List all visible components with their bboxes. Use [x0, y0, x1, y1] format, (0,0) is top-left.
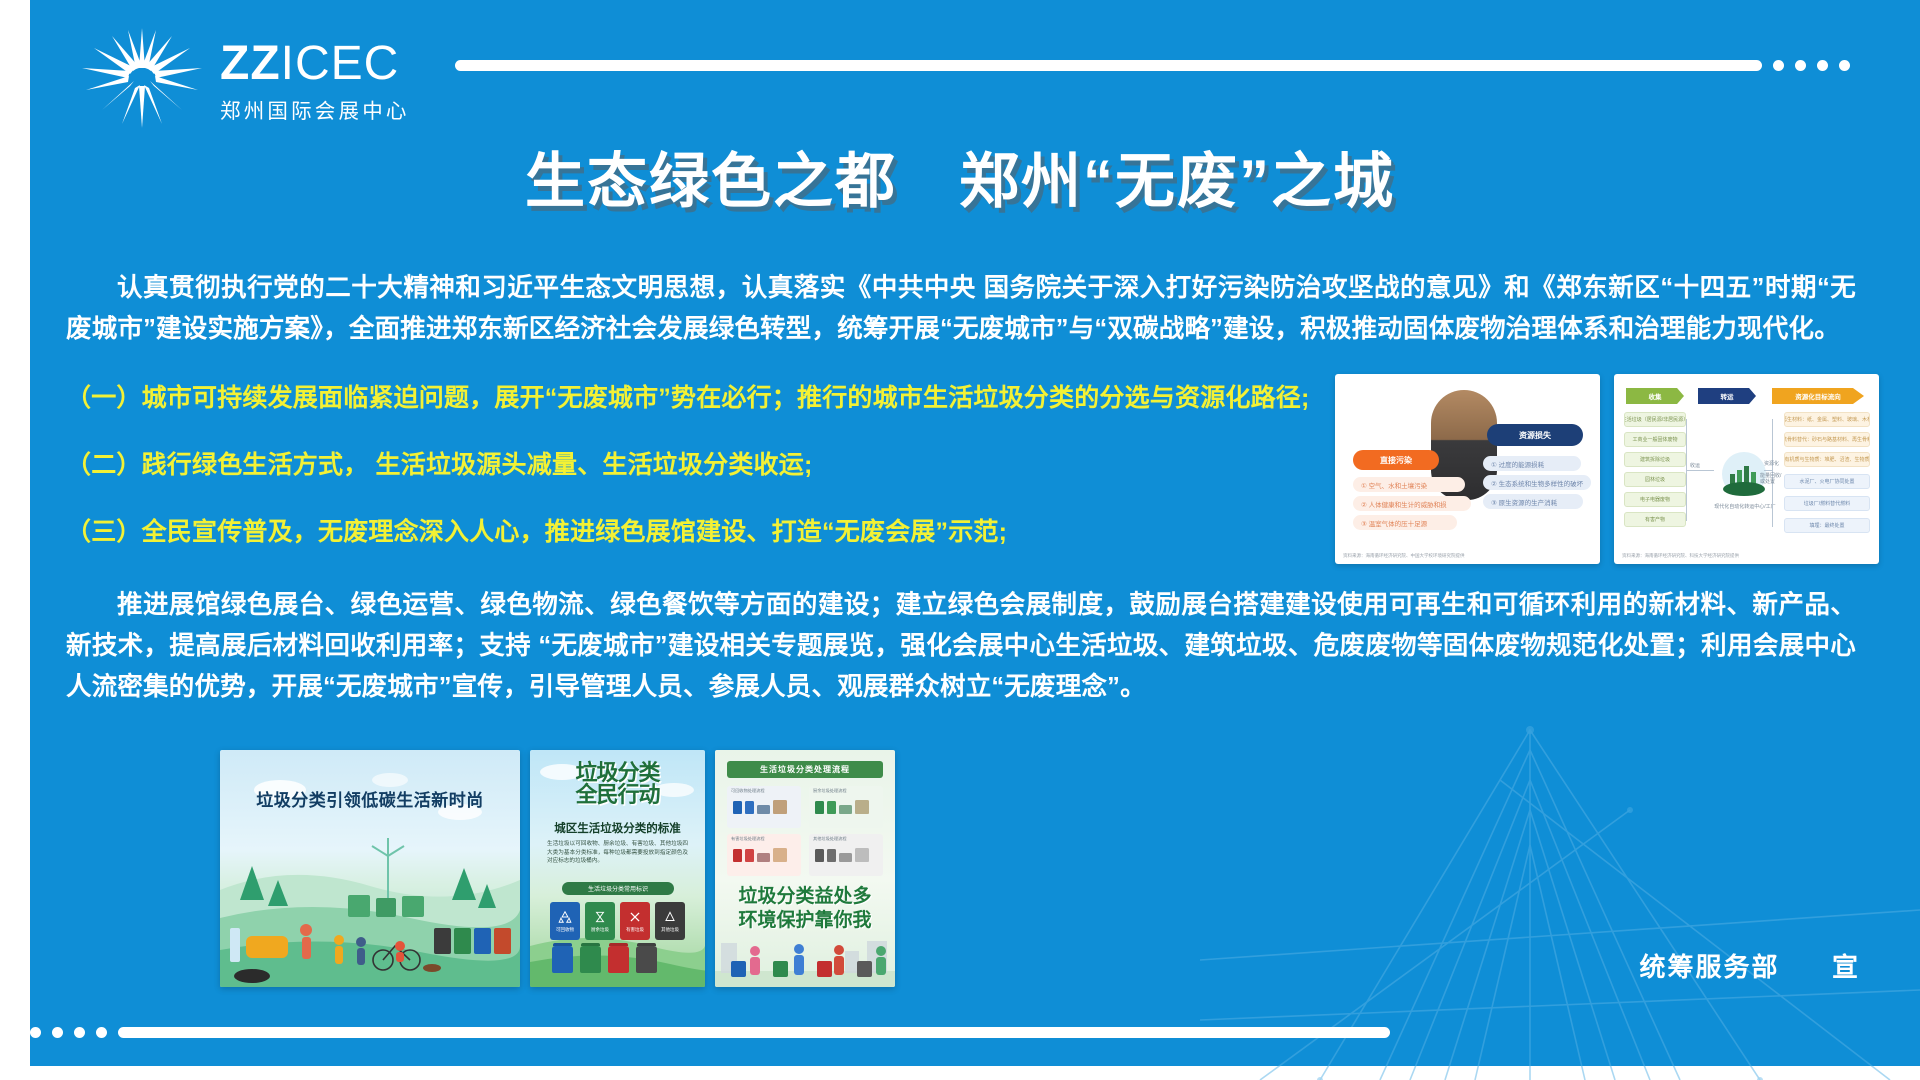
- flow-step-label: 能量回收/或处置: [1760, 474, 1782, 485]
- brand-icec: ICEC: [281, 37, 400, 90]
- top-divider-rule: [455, 60, 1850, 71]
- poster-title: 垃圾分类引领低碳生活新时尚: [220, 786, 520, 811]
- category-card: 其他垃圾: [655, 902, 685, 940]
- poster-headline: 垃圾分类 全民行动: [530, 762, 705, 806]
- footer-department-name: 统筹服务部: [1640, 952, 1780, 982]
- top-rule-dot: [1817, 60, 1828, 71]
- flow-input: 生活垃圾（居民源/非居民源）: [1624, 412, 1686, 427]
- process-quadrant: 可回收物处理流程: [727, 786, 801, 828]
- flow-output: 填埋：最终处置: [1784, 518, 1870, 533]
- flow-input: 电子电器废物: [1624, 492, 1686, 507]
- poster-headline-line-1: 垃圾分类: [530, 762, 705, 784]
- recycle-icon: [558, 910, 572, 924]
- page-title: 生态绿色之都 郑州“无废”之城: [0, 133, 1920, 220]
- flow-output: 建筑骨料替代：砂石与路基材料、再生骨料…: [1784, 432, 1870, 447]
- page-edge-bottom: [0, 1066, 1920, 1080]
- poster-subtitle: 城区生活垃圾分类的标准: [530, 820, 705, 836]
- category-label: 厨余垃圾: [591, 927, 609, 933]
- intro-paragraph: 认真贯彻执行党的二十大精神和习近平生态文明思想，认真落实《中共中央 国务院关于深…: [66, 268, 1856, 350]
- bridge-line-art-decoration: [1200, 660, 1920, 1080]
- process-quadrant: 厨余垃圾处理流程: [809, 786, 883, 828]
- bin-recyclable: [552, 946, 573, 973]
- category-label: 可回收物: [556, 927, 574, 933]
- impact-point: ② 人体健康和生计的威胁和损: [1353, 496, 1471, 511]
- waste-process-flowchart[interactable]: 收集 转运 资源化目标流向 生活垃圾（居民源/非居民源） 工商业一般固体废物 建…: [1614, 374, 1879, 564]
- impact-point: ① 空气、水和土壤污染: [1353, 477, 1465, 492]
- flow-input: 园林垃圾: [1624, 472, 1686, 487]
- bin-kitchen: [580, 946, 601, 973]
- bottom-rule-dot: [96, 1027, 107, 1038]
- source-caption: 资料来源：海南循环经济研究院、中国大学校环境研究院提供: [1343, 553, 1465, 559]
- bottom-rule-dot: [52, 1027, 63, 1038]
- footer-department: 统筹服务部 宣: [1640, 947, 1861, 984]
- flow-input: 工商业一般固体废物: [1624, 432, 1686, 447]
- top-rule-dot: [1839, 60, 1850, 71]
- other-waste-icon: [663, 910, 677, 924]
- process-quadrant: 其他垃圾处理流程: [809, 834, 883, 876]
- bottom-rule-dot: [74, 1027, 85, 1038]
- brand-wordmark: ZZICEC: [220, 40, 410, 88]
- category-card: 可回收物: [550, 902, 580, 940]
- flow-output: 垃圾厂/燃料替代燃料: [1784, 496, 1870, 511]
- quadrant-label: 其他垃圾处理流程: [813, 836, 847, 842]
- top-rule-bar: [455, 60, 1762, 71]
- source-caption: 资料来源：海南循环经济研究院、科技大学经济研究院提供: [1622, 553, 1739, 559]
- category-card: 厨余垃圾: [585, 902, 615, 940]
- poster-headline-line-2: 全民行动: [530, 784, 705, 806]
- kitchen-waste-icon: [593, 910, 607, 924]
- bottom-rule-bar: [118, 1027, 1390, 1038]
- flow-center-label: 现代化自动化转运中心/工厂: [1714, 504, 1776, 510]
- sunburst-logo-icon: [78, 24, 206, 128]
- bin-hazard: [608, 946, 629, 973]
- flow-input: 有害产物: [1624, 512, 1686, 527]
- poster-header-band: 生活垃圾分类处理流程: [727, 761, 883, 778]
- top-rule-dot: [1773, 60, 1784, 71]
- poster-body-text: 生活垃圾以可回收物、厨余垃圾、有害垃圾、其他垃圾四大类为基本分类标准，每种垃圾都…: [547, 840, 688, 866]
- category-label: 其他垃圾: [661, 927, 679, 933]
- flow-banner-collect: 收集: [1626, 388, 1684, 404]
- flow-output: 再生材料：纸、金属、塑料、玻璃、木材: [1784, 412, 1870, 427]
- flow-banner-transfer: 转运: [1698, 388, 1756, 404]
- top-rule-dot: [1795, 60, 1806, 71]
- direct-pollution-badge: 直接污染: [1353, 450, 1439, 470]
- poster-classification-standard[interactable]: 垃圾分类 全民行动 城区生活垃圾分类的标准 生活垃圾以可回收物、厨余垃圾、有害垃…: [530, 750, 705, 987]
- process-quadrant: 有害垃圾处理流程: [727, 834, 801, 876]
- loss-point: ② 生态系统和生物多样性的破坏: [1483, 475, 1591, 490]
- category-label: 有害垃圾: [626, 927, 644, 933]
- poster-slogan-line-1: 垃圾分类益处多: [715, 885, 895, 909]
- poster-process-benefits[interactable]: 生活垃圾分类处理流程 可回收物处理流程 厨余垃圾处理流程 有害垃圾处理流程 其他…: [715, 750, 895, 987]
- impact-point: ③ 温室气体的压十足源: [1353, 515, 1457, 530]
- loss-point: ③ 原生资源的生产消耗: [1483, 494, 1583, 509]
- infographic-thumbnails: 直接污染 资源损失 ① 空气、水和土壤污染 ② 人体健康和生计的威胁和损 ③ 温…: [1335, 374, 1879, 564]
- brand-chinese-name: 郑州国际会展中心: [220, 94, 410, 124]
- loss-point: ① 过度的能源损耗: [1483, 456, 1581, 471]
- flow-output: 水泥厂、火电厂协同处置: [1784, 474, 1870, 489]
- hazard-icon: [628, 910, 642, 924]
- poster-gallery: 垃圾分类引领低碳生活新时尚 垃圾分类 全民行动 城区生活垃圾分类的标准 生活垃圾…: [220, 750, 895, 987]
- flow-input: 建筑拆除垃圾: [1624, 452, 1686, 467]
- bin-other: [636, 946, 657, 973]
- poster-section-tag: 生活垃圾分类常用标识: [562, 882, 674, 895]
- resource-loss-badge: 资源损失: [1487, 424, 1583, 446]
- poster-low-carbon-life[interactable]: 垃圾分类引领低碳生活新时尚: [220, 750, 520, 987]
- flow-step-label: 资源化: [1764, 460, 1779, 467]
- flow-step-label: 收运: [1690, 462, 1700, 469]
- quadrant-label: 可回收物处理流程: [731, 788, 765, 794]
- flow-output: 有机质与生物质：堆肥、沼渣、生物质: [1784, 452, 1870, 467]
- brand-logo: ZZICEC 郑州国际会展中心: [78, 24, 410, 128]
- category-card: 有害垃圾: [620, 902, 650, 940]
- brand-zz: ZZ: [220, 37, 281, 90]
- bottom-divider-rule: [30, 1027, 1390, 1038]
- closing-paragraph: 推进展馆绿色展台、绿色运营、绿色物流、绿色餐饮等方面的建设；建立绿色会展制度，鼓…: [66, 585, 1856, 708]
- bottom-rule-dot: [30, 1027, 41, 1038]
- waste-impact-infographic[interactable]: 直接污染 资源损失 ① 空气、水和土壤污染 ② 人体健康和生计的威胁和损 ③ 温…: [1335, 374, 1600, 564]
- footer-suffix: 宣: [1832, 952, 1860, 982]
- poster-slogan: 垃圾分类益处多 环境保护靠你我: [715, 885, 895, 933]
- flow-banner-recycle: 资源化目标流向: [1772, 388, 1864, 404]
- quadrant-label: 有害垃圾处理流程: [731, 836, 765, 842]
- quadrant-label: 厨余垃圾处理流程: [813, 788, 847, 794]
